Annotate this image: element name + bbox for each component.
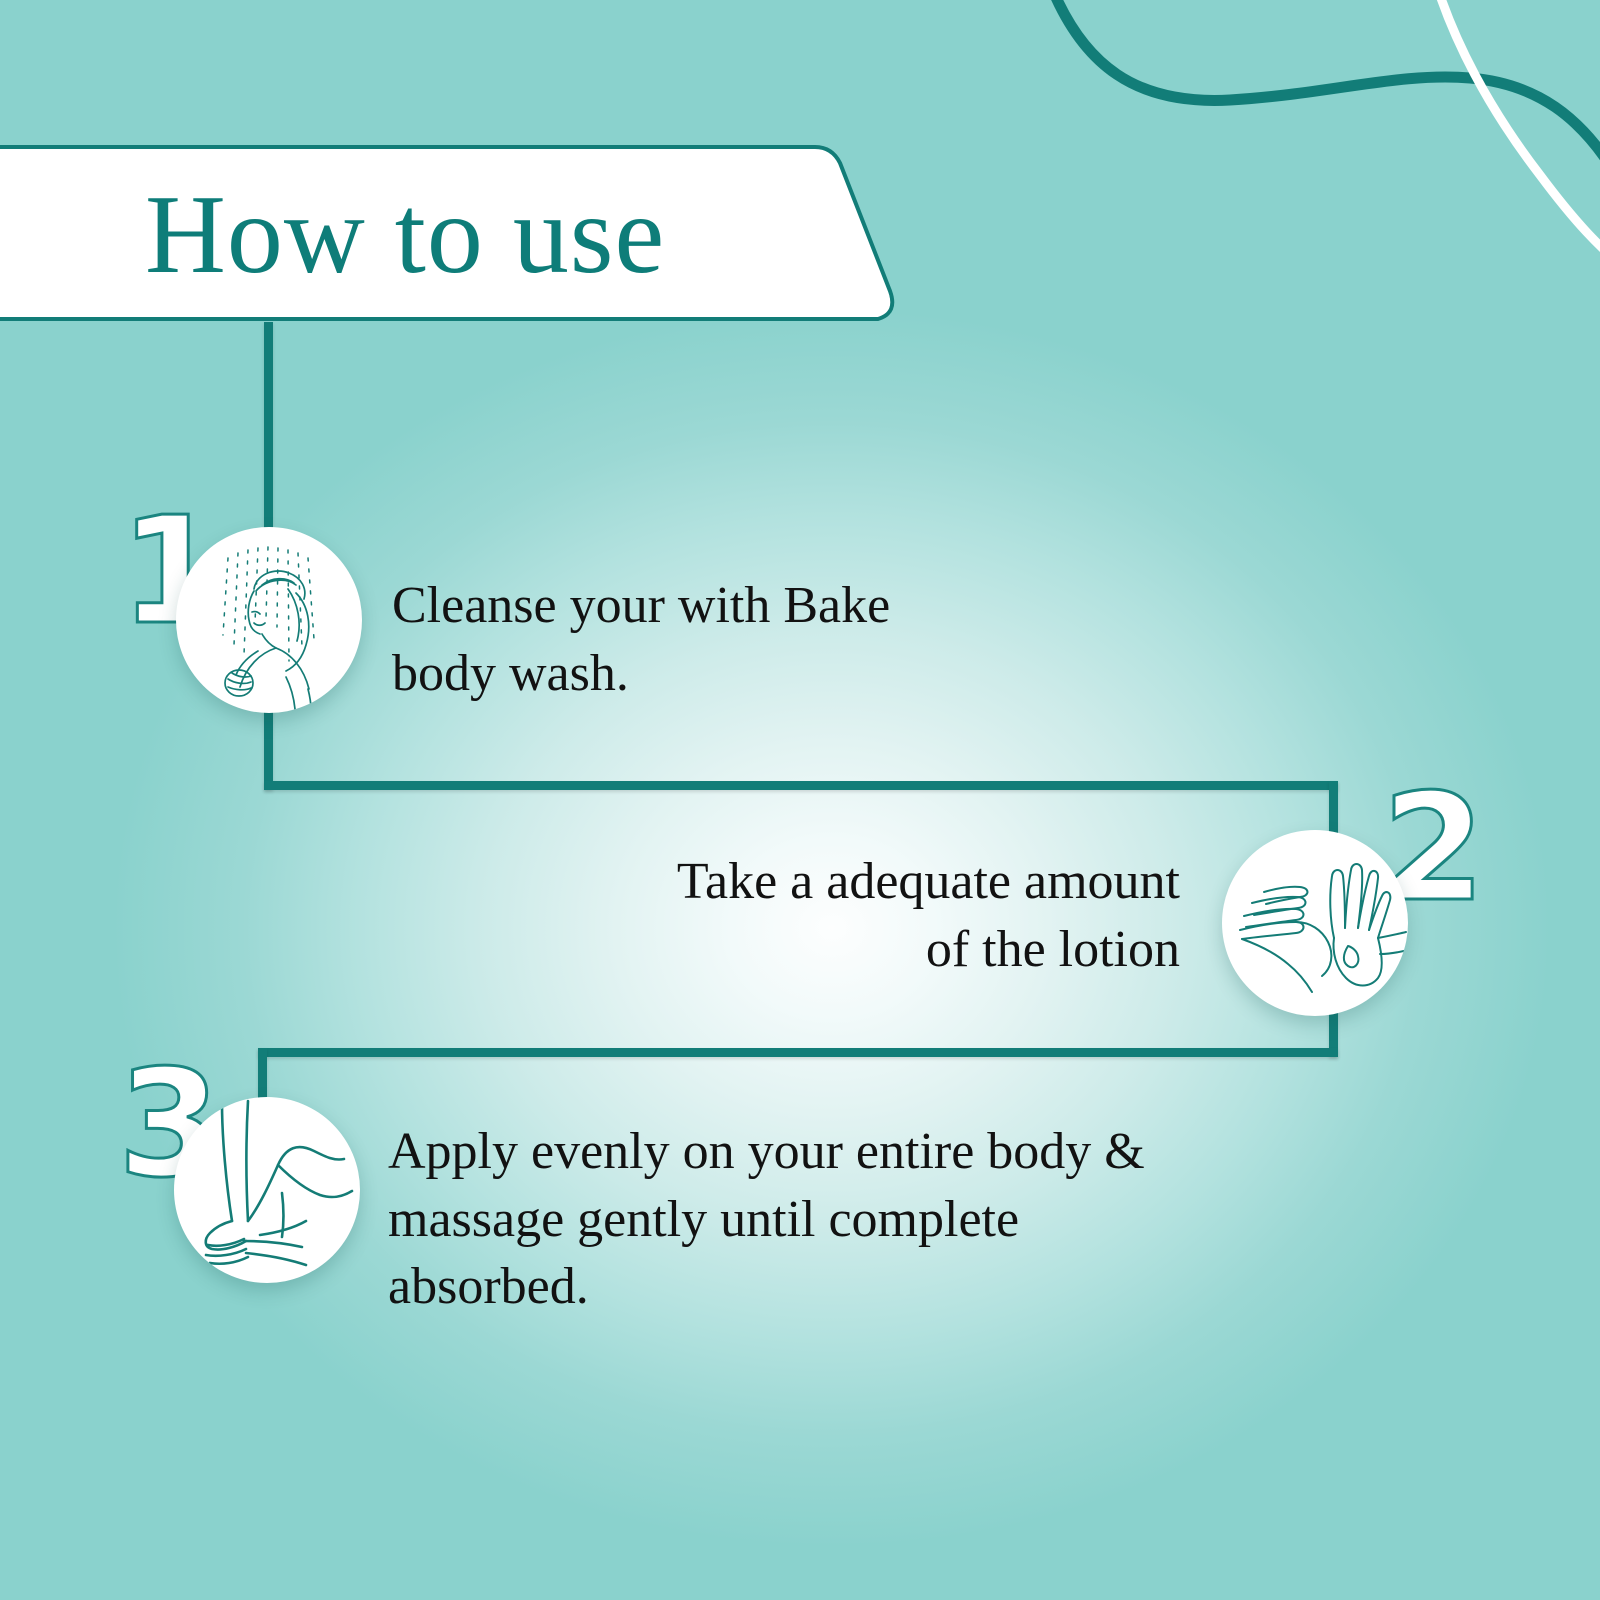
woman-showering-icon xyxy=(176,527,362,713)
step-1-text: Cleanse your with Bake body wash. xyxy=(392,572,1092,707)
step-2-text: Take a adequate amount of the lotion xyxy=(420,848,1180,983)
connector-step1-to-step2 xyxy=(264,781,1338,790)
title-banner: How to use xyxy=(0,143,910,325)
page-title: How to use xyxy=(145,165,785,305)
hands-lotion-icon xyxy=(1222,830,1408,1016)
connector-step2-to-step3 xyxy=(258,1048,1338,1057)
leg-massage-icon xyxy=(174,1097,360,1283)
how-to-use-poster: How to use 1 xyxy=(0,0,1600,1600)
teal-wave-decoration xyxy=(1045,0,1600,165)
step-3-text: Apply evenly on your entire body & massa… xyxy=(388,1118,1318,1321)
connector-banner-to-step1 xyxy=(264,322,273,554)
white-wave-decoration xyxy=(1432,0,1600,268)
